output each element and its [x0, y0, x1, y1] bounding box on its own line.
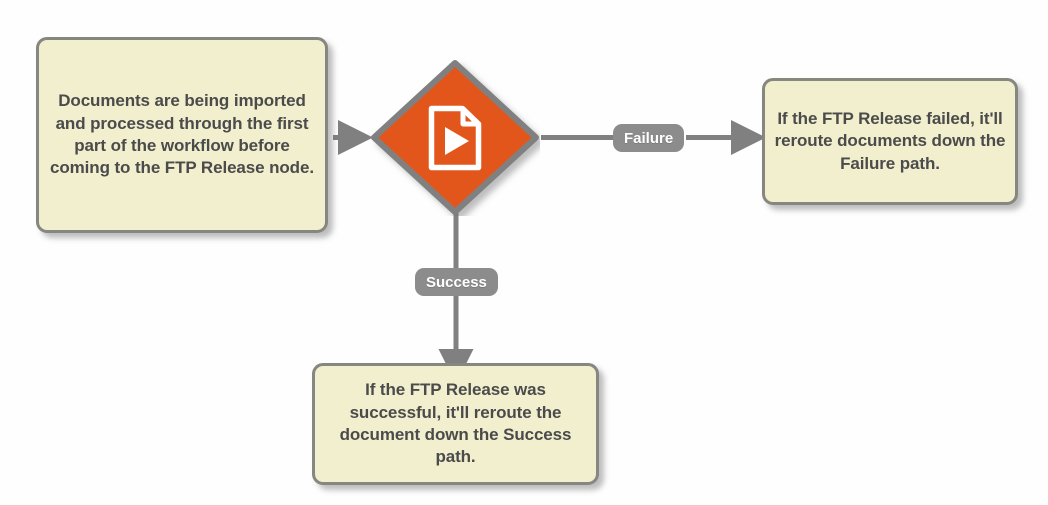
edge-label-success[interactable]: Success — [415, 268, 498, 296]
document-play-icon — [426, 105, 484, 171]
note-failure: If the FTP Release failed, it'll reroute… — [762, 78, 1018, 205]
note-intro-text: Documents are being imported and process… — [39, 90, 325, 180]
diagram-canvas: Documents are being imported and process… — [0, 0, 1048, 505]
note-success: If the FTP Release was successful, it'll… — [312, 363, 599, 485]
note-success-text: If the FTP Release was successful, it'll… — [315, 379, 596, 469]
note-failure-text: If the FTP Release failed, it'll reroute… — [765, 108, 1015, 175]
ftp-release-node[interactable] — [370, 59, 540, 216]
edge-label-failure[interactable]: Failure — [613, 124, 684, 152]
note-intro: Documents are being imported and process… — [36, 37, 328, 233]
